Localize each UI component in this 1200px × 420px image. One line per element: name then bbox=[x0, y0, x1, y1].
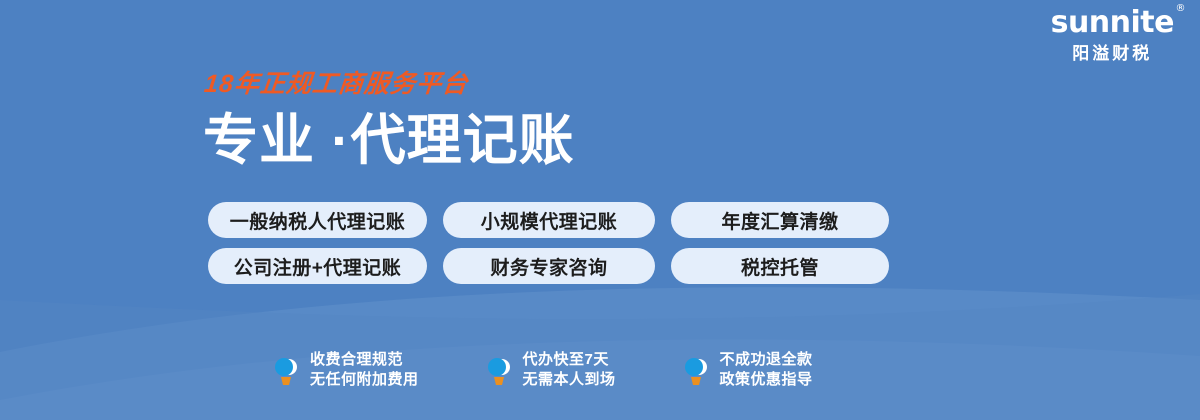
feature-list: 收费合理规范 无任何附加费用 代办快至7天 无需本人到场 bbox=[272, 350, 813, 391]
headline-block: 18年正规工商服务平台 专业 ·代理记账 bbox=[203, 72, 575, 170]
feature-line-1: 收费合理规范 bbox=[310, 350, 419, 370]
service-pill-tax-control-hosting[interactable]: 税控托管 bbox=[671, 248, 889, 284]
page-title: 专业 ·代理记账 bbox=[203, 111, 575, 170]
logo-wordmark: sunnite ® bbox=[1051, 8, 1174, 38]
service-pill-group: 一般纳税人代理记账 小规模代理记账 年度汇算清缴 公司注册+代理记账 财务专家咨… bbox=[208, 202, 889, 284]
brand-logo[interactable]: sunnite ® 阳溢财税 bbox=[1051, 8, 1174, 62]
headline-kicker: 18年正规工商服务平台 bbox=[203, 72, 577, 97]
feature-line-2: 政策优惠指导 bbox=[720, 370, 813, 390]
logo-subtitle: 阳溢财税 bbox=[1051, 45, 1174, 62]
feature-item-speed: 代办快至7天 无需本人到场 bbox=[485, 350, 616, 391]
bullet-dot-icon bbox=[682, 354, 710, 386]
feature-item-guarantee: 不成功退全款 政策优惠指导 bbox=[682, 350, 813, 391]
service-pill-row: 公司注册+代理记账 财务专家咨询 税控托管 bbox=[208, 248, 889, 284]
service-pill-row: 一般纳税人代理记账 小规模代理记账 年度汇算清缴 bbox=[208, 202, 889, 238]
feature-item-text: 不成功退全款 政策优惠指导 bbox=[720, 350, 813, 391]
service-pill-small-scale-bookkeeping[interactable]: 小规模代理记账 bbox=[443, 202, 655, 238]
bullet-dot-icon bbox=[272, 354, 300, 386]
feature-item-text: 收费合理规范 无任何附加费用 bbox=[310, 350, 419, 391]
feature-item-text: 代办快至7天 无需本人到场 bbox=[523, 350, 616, 391]
service-pill-company-registration-bookkeeping[interactable]: 公司注册+代理记账 bbox=[208, 248, 427, 284]
registered-trademark-icon: ® bbox=[1176, 4, 1186, 14]
promo-banner: sunnite ® 阳溢财税 18年正规工商服务平台 专业 ·代理记账 一般纳税… bbox=[0, 0, 1200, 420]
service-pill-general-taxpayer-bookkeeping[interactable]: 一般纳税人代理记账 bbox=[208, 202, 427, 238]
service-pill-finance-expert-consulting[interactable]: 财务专家咨询 bbox=[443, 248, 655, 284]
feature-item-pricing: 收费合理规范 无任何附加费用 bbox=[272, 350, 419, 391]
feature-line-2: 无需本人到场 bbox=[523, 370, 616, 390]
logo-wordmark-text: sunnite bbox=[1051, 5, 1174, 40]
feature-line-1: 不成功退全款 bbox=[720, 350, 813, 370]
service-pill-annual-tax-settlement[interactable]: 年度汇算清缴 bbox=[671, 202, 889, 238]
feature-line-2: 无任何附加费用 bbox=[310, 370, 419, 390]
feature-line-1: 代办快至7天 bbox=[523, 350, 616, 370]
bullet-dot-icon bbox=[485, 354, 513, 386]
